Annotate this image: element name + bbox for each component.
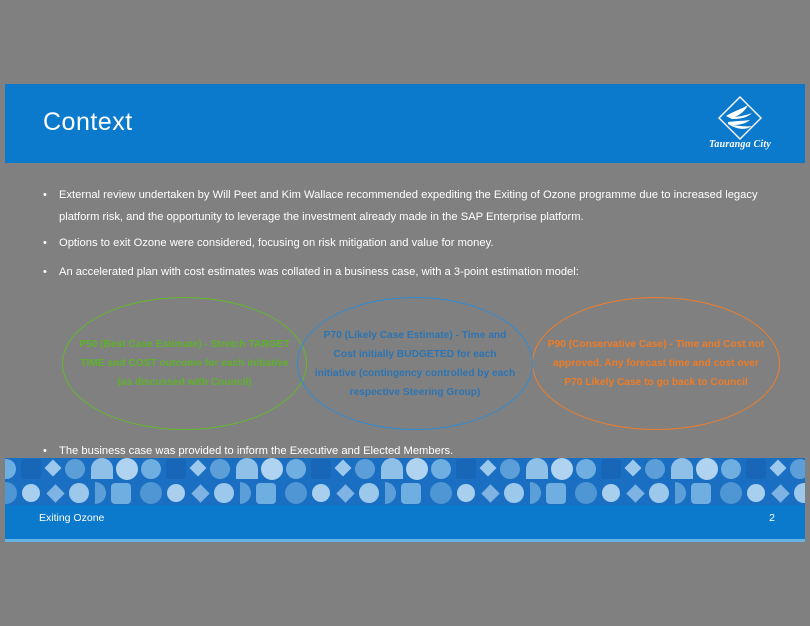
bullet-marker-icon: •	[43, 184, 59, 206]
bullet-marker-icon: •	[43, 232, 59, 254]
estimate-ellipse-p90: P90 (Conservative Case) - Time and Cost …	[532, 297, 780, 430]
slide-canvas: Context Tauranga City • External review …	[5, 84, 805, 542]
bullet-text: External review undertaken by Will Peet …	[59, 184, 761, 228]
estimate-label-p70: P70 (Likely Case Estimate) - Time and Co…	[298, 326, 532, 402]
bullet-text: Options to exit Ozone were considered, f…	[59, 232, 493, 254]
decorative-pattern-band	[5, 458, 805, 505]
bullet-text: An accelerated plan with cost estimates …	[59, 261, 579, 283]
bullet-item: • An accelerated plan with cost estimate…	[43, 261, 761, 283]
estimate-label-p90: P90 (Conservative Case) - Time and Cost …	[533, 335, 779, 392]
logo-caption: Tauranga City	[697, 139, 783, 150]
estimate-label-p50: P50 (Best Case Estimate) - Stretch TARGE…	[63, 335, 306, 392]
footer-label: Exiting Ozone	[39, 512, 104, 524]
page-title: Context	[43, 108, 133, 137]
footer-bar	[5, 505, 805, 539]
footer-page-number: 2	[769, 512, 775, 524]
slide-header-band: Context Tauranga City	[5, 84, 805, 163]
slide-footer: Exiting Ozone 2	[5, 458, 805, 542]
tauranga-city-diamond-icon	[716, 94, 764, 142]
estimate-ellipse-p50: P50 (Best Case Estimate) - Stretch TARGE…	[62, 297, 307, 430]
bullet-item: • External review undertaken by Will Pee…	[43, 184, 761, 228]
bullet-item: • Options to exit Ozone were considered,…	[43, 232, 761, 254]
bullet-marker-icon: •	[43, 261, 59, 283]
footer-rule-divider	[5, 539, 805, 542]
logo: Tauranga City	[697, 94, 783, 156]
estimate-ellipse-p70: P70 (Likely Case Estimate) - Time and Co…	[297, 297, 533, 430]
pattern-shapes-icon	[5, 458, 805, 505]
